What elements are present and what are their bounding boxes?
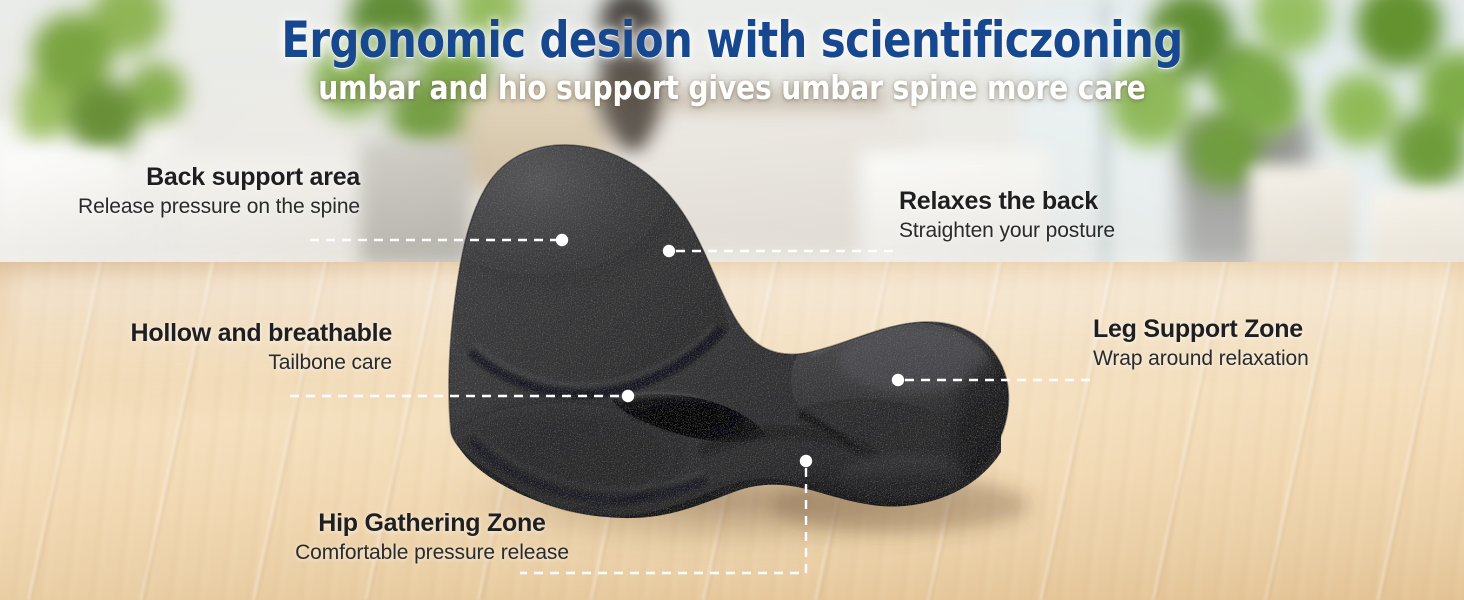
cushion-backrest-highlight xyxy=(425,139,695,331)
product-image-cushion xyxy=(0,0,1464,600)
cushion-body xyxy=(425,139,1035,540)
infographic-canvas: Ergonomic desion with scientificzoning u… xyxy=(0,0,1464,600)
